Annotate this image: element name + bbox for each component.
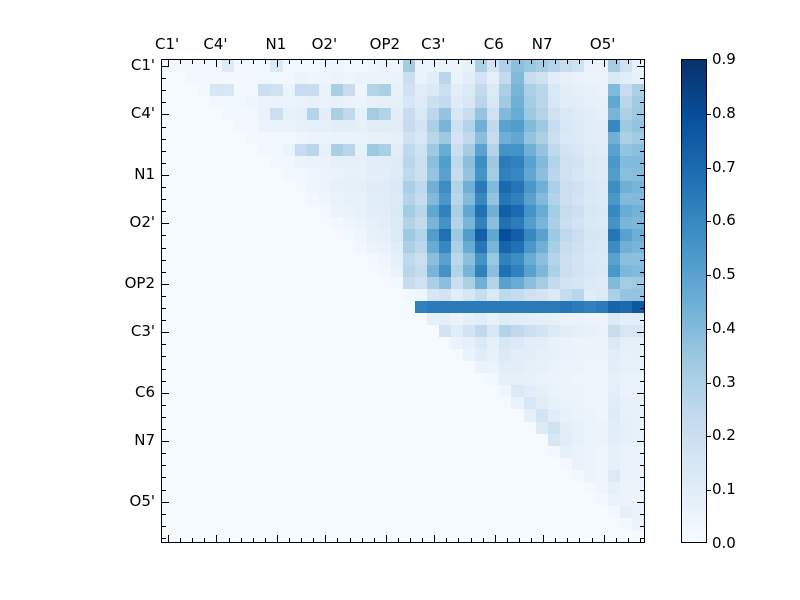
- heatmap-cell: [608, 385, 620, 397]
- heatmap-cell: [596, 494, 608, 506]
- heatmap-cell: [487, 193, 499, 205]
- heatmap-cell: [258, 482, 270, 494]
- heatmap-cell: [584, 205, 596, 217]
- heatmap-cell: [367, 506, 379, 518]
- heatmap-cell: [415, 229, 427, 241]
- heatmap-cell: [572, 60, 584, 72]
- heatmap-cell: [367, 181, 379, 193]
- heatmap-cell: [283, 289, 295, 301]
- heatmap-cell: [427, 205, 439, 217]
- heatmap-cell: [560, 205, 572, 217]
- heatmap-cell: [307, 482, 319, 494]
- heatmap-cell: [572, 229, 584, 241]
- y-tick-label: C6: [135, 383, 155, 401]
- y-tick-left: [162, 272, 166, 273]
- heatmap-cell: [584, 397, 596, 409]
- heatmap-cell: [222, 217, 234, 229]
- heatmap-cell: [475, 217, 487, 229]
- heatmap-cell: [451, 530, 463, 542]
- heatmap-cell: [174, 470, 186, 482]
- heatmap-cell: [355, 289, 367, 301]
- heatmap-cell: [499, 494, 511, 506]
- heatmap-cell: [463, 156, 475, 168]
- heatmap-cell: [283, 325, 295, 337]
- heatmap-cell: [331, 458, 343, 470]
- heatmap-cell: [427, 458, 439, 470]
- heatmap-cell: [403, 530, 415, 542]
- heatmap-cell: [487, 349, 499, 361]
- heatmap-cell: [499, 434, 511, 446]
- heatmap-cell: [451, 337, 463, 349]
- heatmap-cell: [234, 482, 246, 494]
- y-tick-right: [637, 284, 644, 285]
- heatmap-cell: [174, 205, 186, 217]
- heatmap-cell: [524, 409, 536, 421]
- heatmap-cell: [415, 205, 427, 217]
- heatmap-cell: [210, 217, 222, 229]
- heatmap-cell: [403, 289, 415, 301]
- heatmap-cell: [524, 72, 536, 84]
- heatmap-cell: [391, 434, 403, 446]
- heatmap-cell: [560, 241, 572, 253]
- heatmap-cell: [439, 313, 451, 325]
- heatmap-cell: [608, 337, 620, 349]
- heatmap-cell: [270, 313, 282, 325]
- heatmap-cell: [331, 385, 343, 397]
- heatmap-cell: [463, 458, 475, 470]
- heatmap-cell: [222, 205, 234, 217]
- heatmap-cell: [307, 205, 319, 217]
- y-tick-left: [162, 356, 166, 357]
- heatmap-cell: [572, 482, 584, 494]
- heatmap-cell: [596, 482, 608, 494]
- heatmap-cell: [283, 422, 295, 434]
- heatmap-cell: [222, 193, 234, 205]
- heatmap-cell: [439, 458, 451, 470]
- heatmap-cell: [270, 132, 282, 144]
- heatmap-cell: [608, 265, 620, 277]
- heatmap-cell: [596, 217, 608, 229]
- heatmap-cell: [174, 506, 186, 518]
- heatmap-cell: [560, 72, 572, 84]
- heatmap-cell: [343, 397, 355, 409]
- heatmap-cell: [536, 337, 548, 349]
- heatmap-cell: [463, 60, 475, 72]
- heatmap-cell: [572, 397, 584, 409]
- heatmap-cell: [283, 96, 295, 108]
- heatmap-cell: [427, 193, 439, 205]
- heatmap-cell: [451, 373, 463, 385]
- heatmap-cell: [415, 325, 427, 337]
- heatmap-cell: [319, 205, 331, 217]
- heatmap-cell: [283, 506, 295, 518]
- y-tick-left: [162, 526, 166, 527]
- heatmap-cell: [499, 325, 511, 337]
- heatmap-cell: [439, 301, 451, 313]
- heatmap-cell: [391, 494, 403, 506]
- heatmap-cell: [198, 132, 210, 144]
- heatmap-cell: [415, 301, 427, 313]
- heatmap-cell: [524, 193, 536, 205]
- heatmap-cell: [427, 120, 439, 132]
- heatmap-cell: [391, 373, 403, 385]
- heatmap-cell: [475, 84, 487, 96]
- heatmap-cell: [620, 181, 632, 193]
- heatmap-cell: [427, 530, 439, 542]
- x-tick-top: [471, 60, 472, 64]
- heatmap-cell: [560, 289, 572, 301]
- heatmap-cell: [511, 229, 523, 241]
- heatmap-cell: [548, 337, 560, 349]
- heatmap-cell: [307, 518, 319, 530]
- heatmap-cell: [511, 409, 523, 421]
- heatmap-cell: [379, 241, 391, 253]
- y-tick-right: [640, 465, 644, 466]
- heatmap-cell: [198, 506, 210, 518]
- heatmap-cell: [415, 313, 427, 325]
- heatmap-cell: [198, 397, 210, 409]
- heatmap-cell: [608, 144, 620, 156]
- heatmap-cell: [198, 313, 210, 325]
- heatmap-axes[interactable]: [161, 59, 645, 543]
- heatmap-cell: [560, 229, 572, 241]
- heatmap-cell: [560, 434, 572, 446]
- heatmap-cell: [270, 217, 282, 229]
- heatmap-cell: [608, 241, 620, 253]
- heatmap-cell: [343, 337, 355, 349]
- heatmap-cell: [632, 482, 644, 494]
- heatmap-cell: [511, 72, 523, 84]
- heatmap-cell: [258, 120, 270, 132]
- heatmap-cell: [319, 289, 331, 301]
- heatmap-cell: [451, 72, 463, 84]
- heatmap-cell: [524, 349, 536, 361]
- heatmap-cell: [270, 337, 282, 349]
- heatmap-cell: [186, 397, 198, 409]
- y-tick-left: [162, 477, 166, 478]
- heatmap-cell: [246, 337, 258, 349]
- heatmap-cell: [307, 229, 319, 241]
- heatmap-cell: [427, 229, 439, 241]
- heatmap-cell: [174, 241, 186, 253]
- heatmap-cell: [451, 482, 463, 494]
- heatmap-cell: [391, 470, 403, 482]
- heatmap-cell: [198, 446, 210, 458]
- heatmap-cell: [548, 181, 560, 193]
- heatmap-cell: [162, 518, 174, 530]
- heatmap-cell: [536, 458, 548, 470]
- heatmap-cell: [475, 181, 487, 193]
- heatmap-cell: [295, 397, 307, 409]
- heatmap-cell: [391, 181, 403, 193]
- heatmap-cell: [307, 253, 319, 265]
- heatmap-cell: [186, 289, 198, 301]
- heatmap-cell: [499, 132, 511, 144]
- heatmap-cell: [198, 518, 210, 530]
- heatmap-cell: [391, 397, 403, 409]
- heatmap-cell: [222, 120, 234, 132]
- y-tick-left: [162, 78, 166, 79]
- heatmap-cell: [355, 229, 367, 241]
- y-tick-right: [640, 417, 644, 418]
- heatmap-cell: [511, 470, 523, 482]
- x-tick-top: [301, 60, 302, 64]
- heatmap-cell: [403, 518, 415, 530]
- heatmap-cell: [560, 337, 572, 349]
- heatmap-cell: [246, 289, 258, 301]
- y-tick-right: [640, 369, 644, 370]
- heatmap-cell: [511, 205, 523, 217]
- y-tick-label: N1: [134, 165, 155, 183]
- heatmap-cell: [524, 325, 536, 337]
- heatmap-cell: [367, 108, 379, 120]
- heatmap-cell: [451, 397, 463, 409]
- heatmap-cell: [427, 277, 439, 289]
- heatmap-cell: [596, 181, 608, 193]
- heatmap-cell: [198, 156, 210, 168]
- heatmap-cell: [270, 446, 282, 458]
- x-tick-label: OP2: [370, 35, 400, 53]
- heatmap-cell: [415, 84, 427, 96]
- heatmap-cell: [596, 229, 608, 241]
- heatmap-cell: [572, 241, 584, 253]
- heatmap-cell: [174, 168, 186, 180]
- heatmap-cell: [463, 168, 475, 180]
- heatmap-cell: [499, 156, 511, 168]
- heatmap-cell: [355, 458, 367, 470]
- heatmap-cell: [270, 72, 282, 84]
- heatmap-cell: [463, 241, 475, 253]
- heatmap-cell: [548, 229, 560, 241]
- heatmap-cell: [560, 265, 572, 277]
- heatmap-cell: [560, 470, 572, 482]
- heatmap-cell: [572, 361, 584, 373]
- heatmap-cell: [596, 144, 608, 156]
- heatmap-cell: [548, 373, 560, 385]
- heatmap-cell: [584, 470, 596, 482]
- heatmap-cell: [270, 241, 282, 253]
- heatmap-cell: [560, 253, 572, 265]
- heatmap-cell: [596, 422, 608, 434]
- heatmap-cell: [331, 349, 343, 361]
- y-tick-right: [640, 477, 644, 478]
- heatmap-cell: [560, 60, 572, 72]
- x-tick-top: [555, 60, 556, 64]
- heatmap-cell: [246, 253, 258, 265]
- heatmap-cell: [536, 530, 548, 542]
- x-tick-bottom: [483, 538, 484, 542]
- y-tick-left: [162, 429, 166, 430]
- heatmap-cell: [511, 289, 523, 301]
- heatmap-cell: [511, 385, 523, 397]
- heatmap-cell: [499, 277, 511, 289]
- heatmap-cell: [536, 494, 548, 506]
- heatmap-cell: [403, 193, 415, 205]
- heatmap-cell: [439, 168, 451, 180]
- heatmap-cell: [246, 168, 258, 180]
- heatmap-cell: [427, 385, 439, 397]
- heatmap-cell: [174, 289, 186, 301]
- heatmap-cell: [536, 361, 548, 373]
- heatmap-cell: [367, 132, 379, 144]
- heatmap-cell: [270, 397, 282, 409]
- heatmap-cell: [319, 373, 331, 385]
- heatmap-cell: [596, 325, 608, 337]
- heatmap-cell: [343, 168, 355, 180]
- heatmap-cell: [343, 84, 355, 96]
- heatmap-cell: [186, 470, 198, 482]
- heatmap-cell: [487, 482, 499, 494]
- heatmap-cell: [415, 72, 427, 84]
- heatmap-cell: [367, 494, 379, 506]
- heatmap-cell: [174, 193, 186, 205]
- heatmap-cell: [343, 458, 355, 470]
- heatmap-cell: [307, 193, 319, 205]
- heatmap-cell: [620, 120, 632, 132]
- heatmap-cell: [331, 313, 343, 325]
- heatmap-cell: [620, 265, 632, 277]
- heatmap-cell: [246, 96, 258, 108]
- heatmap-cell: [367, 470, 379, 482]
- heatmap-cell: [596, 132, 608, 144]
- heatmap-cell: [596, 385, 608, 397]
- heatmap-cell: [620, 301, 632, 313]
- heatmap-cell: [258, 446, 270, 458]
- heatmap-cell: [403, 217, 415, 229]
- heatmap-cell: [343, 217, 355, 229]
- heatmap-cell: [186, 434, 198, 446]
- heatmap-cell: [608, 277, 620, 289]
- heatmap-cell: [307, 168, 319, 180]
- heatmap-cell: [258, 337, 270, 349]
- heatmap-cell: [560, 96, 572, 108]
- heatmap-cell: [584, 361, 596, 373]
- heatmap-cell: [475, 518, 487, 530]
- heatmap-cell: [524, 385, 536, 397]
- heatmap-cell: [391, 241, 403, 253]
- heatmap-cell: [174, 313, 186, 325]
- heatmap-cell: [415, 108, 427, 120]
- heatmap-cell: [283, 132, 295, 144]
- heatmap-cell: [367, 265, 379, 277]
- heatmap-cell: [560, 277, 572, 289]
- heatmap-cell: [283, 494, 295, 506]
- heatmap-cell: [475, 120, 487, 132]
- heatmap-cell: [186, 482, 198, 494]
- heatmap-cell: [511, 193, 523, 205]
- heatmap-cell: [283, 181, 295, 193]
- heatmap-cell: [608, 349, 620, 361]
- x-tick-bottom: [519, 538, 520, 542]
- heatmap-cell: [511, 84, 523, 96]
- heatmap-cell: [451, 205, 463, 217]
- heatmap-cell: [295, 289, 307, 301]
- heatmap-cell: [234, 373, 246, 385]
- colorbar-tick-label: 0.6: [712, 211, 736, 229]
- heatmap-cell: [319, 458, 331, 470]
- heatmap-cell: [463, 132, 475, 144]
- heatmap-cell: [548, 132, 560, 144]
- heatmap-cell: [463, 385, 475, 397]
- heatmap-cell: [427, 301, 439, 313]
- heatmap-cell: [391, 458, 403, 470]
- x-tick-bottom: [241, 538, 242, 542]
- heatmap-cell: [270, 301, 282, 313]
- x-tick-top: [604, 60, 605, 67]
- heatmap-cell: [198, 120, 210, 132]
- heatmap-cell: [536, 325, 548, 337]
- heatmap-cell: [439, 217, 451, 229]
- heatmap-cell: [620, 277, 632, 289]
- heatmap-cell: [234, 217, 246, 229]
- x-tick-top: [422, 60, 423, 64]
- x-tick-top: [192, 60, 193, 64]
- heatmap-cell: [391, 482, 403, 494]
- heatmap-cell: [475, 60, 487, 72]
- heatmap-cell: [511, 482, 523, 494]
- heatmap-cell: [198, 144, 210, 156]
- heatmap-cell: [596, 120, 608, 132]
- heatmap-cell: [234, 241, 246, 253]
- heatmap-cell: [536, 470, 548, 482]
- heatmap-cell: [548, 156, 560, 168]
- heatmap-cell: [451, 265, 463, 277]
- heatmap-cell: [270, 289, 282, 301]
- heatmap-cell: [270, 373, 282, 385]
- heatmap-cell: [186, 217, 198, 229]
- heatmap-cell: [222, 337, 234, 349]
- heatmap-cell: [608, 494, 620, 506]
- heatmap-cell: [463, 84, 475, 96]
- heatmap-cell: [186, 96, 198, 108]
- heatmap-cell: [246, 132, 258, 144]
- heatmap-cell: [331, 132, 343, 144]
- heatmap-cell: [391, 120, 403, 132]
- colorbar-tick-label: 0.4: [712, 319, 736, 337]
- heatmap-cell: [222, 313, 234, 325]
- heatmap-cell: [283, 385, 295, 397]
- heatmap-cell: [174, 458, 186, 470]
- heatmap-cell: [572, 265, 584, 277]
- heatmap-cell: [246, 229, 258, 241]
- heatmap-cell: [584, 337, 596, 349]
- heatmap-cell: [572, 205, 584, 217]
- colorbar-gradient: [682, 60, 706, 542]
- heatmap-cell: [270, 385, 282, 397]
- heatmap-cell: [451, 301, 463, 313]
- heatmap-cell: [186, 229, 198, 241]
- heatmap-cell: [620, 144, 632, 156]
- heatmap-cell: [186, 108, 198, 120]
- heatmap-cell: [379, 349, 391, 361]
- y-tick-right: [640, 538, 644, 539]
- heatmap-cell: [463, 313, 475, 325]
- heatmap-cell: [210, 144, 222, 156]
- heatmap-cell: [475, 205, 487, 217]
- heatmap-cell: [620, 385, 632, 397]
- heatmap-cell: [198, 181, 210, 193]
- heatmap-cell: [210, 397, 222, 409]
- heatmap-cell: [307, 397, 319, 409]
- heatmap-cell: [319, 446, 331, 458]
- heatmap-cell: [403, 482, 415, 494]
- heatmap-cell: [524, 397, 536, 409]
- heatmap-cell: [548, 193, 560, 205]
- heatmap-cell: [548, 108, 560, 120]
- heatmap-cell: [391, 301, 403, 313]
- heatmap-cell: [499, 265, 511, 277]
- x-tick-bottom: [543, 535, 544, 542]
